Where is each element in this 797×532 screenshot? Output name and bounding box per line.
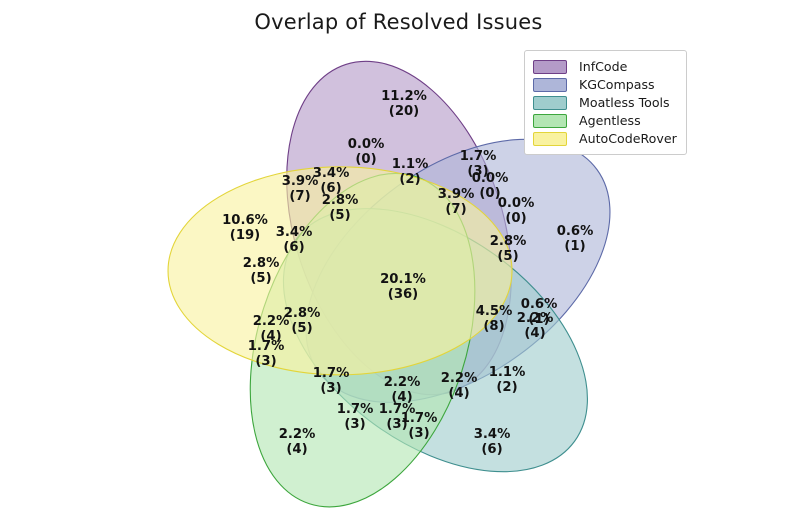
legend-swatch-icon bbox=[533, 60, 567, 74]
legend-swatch-icon bbox=[533, 96, 567, 110]
legend-item-label: Moatless Tools bbox=[579, 95, 670, 110]
legend: InfCodeKGCompassMoatless ToolsAgentlessA… bbox=[524, 50, 687, 155]
legend-item-label: KGCompass bbox=[579, 77, 655, 92]
venn-ellipse-autocoderover bbox=[168, 167, 512, 375]
legend-swatch-icon bbox=[533, 78, 567, 92]
legend-item-label: Agentless bbox=[579, 113, 641, 128]
legend-item-label: AutoCodeRover bbox=[579, 131, 677, 146]
legend-item-infcode[interactable]: InfCode bbox=[533, 58, 677, 75]
legend-swatch-icon bbox=[533, 132, 567, 146]
legend-item-autocoderover[interactable]: AutoCodeRover bbox=[533, 130, 677, 147]
legend-item-kgcompass[interactable]: KGCompass bbox=[533, 76, 677, 93]
legend-item-moatless-tools[interactable]: Moatless Tools bbox=[533, 94, 677, 111]
venn-figure: Overlap of Resolved Issues 10.6%(19)11.2… bbox=[0, 0, 797, 532]
legend-item-agentless[interactable]: Agentless bbox=[533, 112, 677, 129]
legend-swatch-icon bbox=[533, 114, 567, 128]
legend-item-label: InfCode bbox=[579, 59, 627, 74]
